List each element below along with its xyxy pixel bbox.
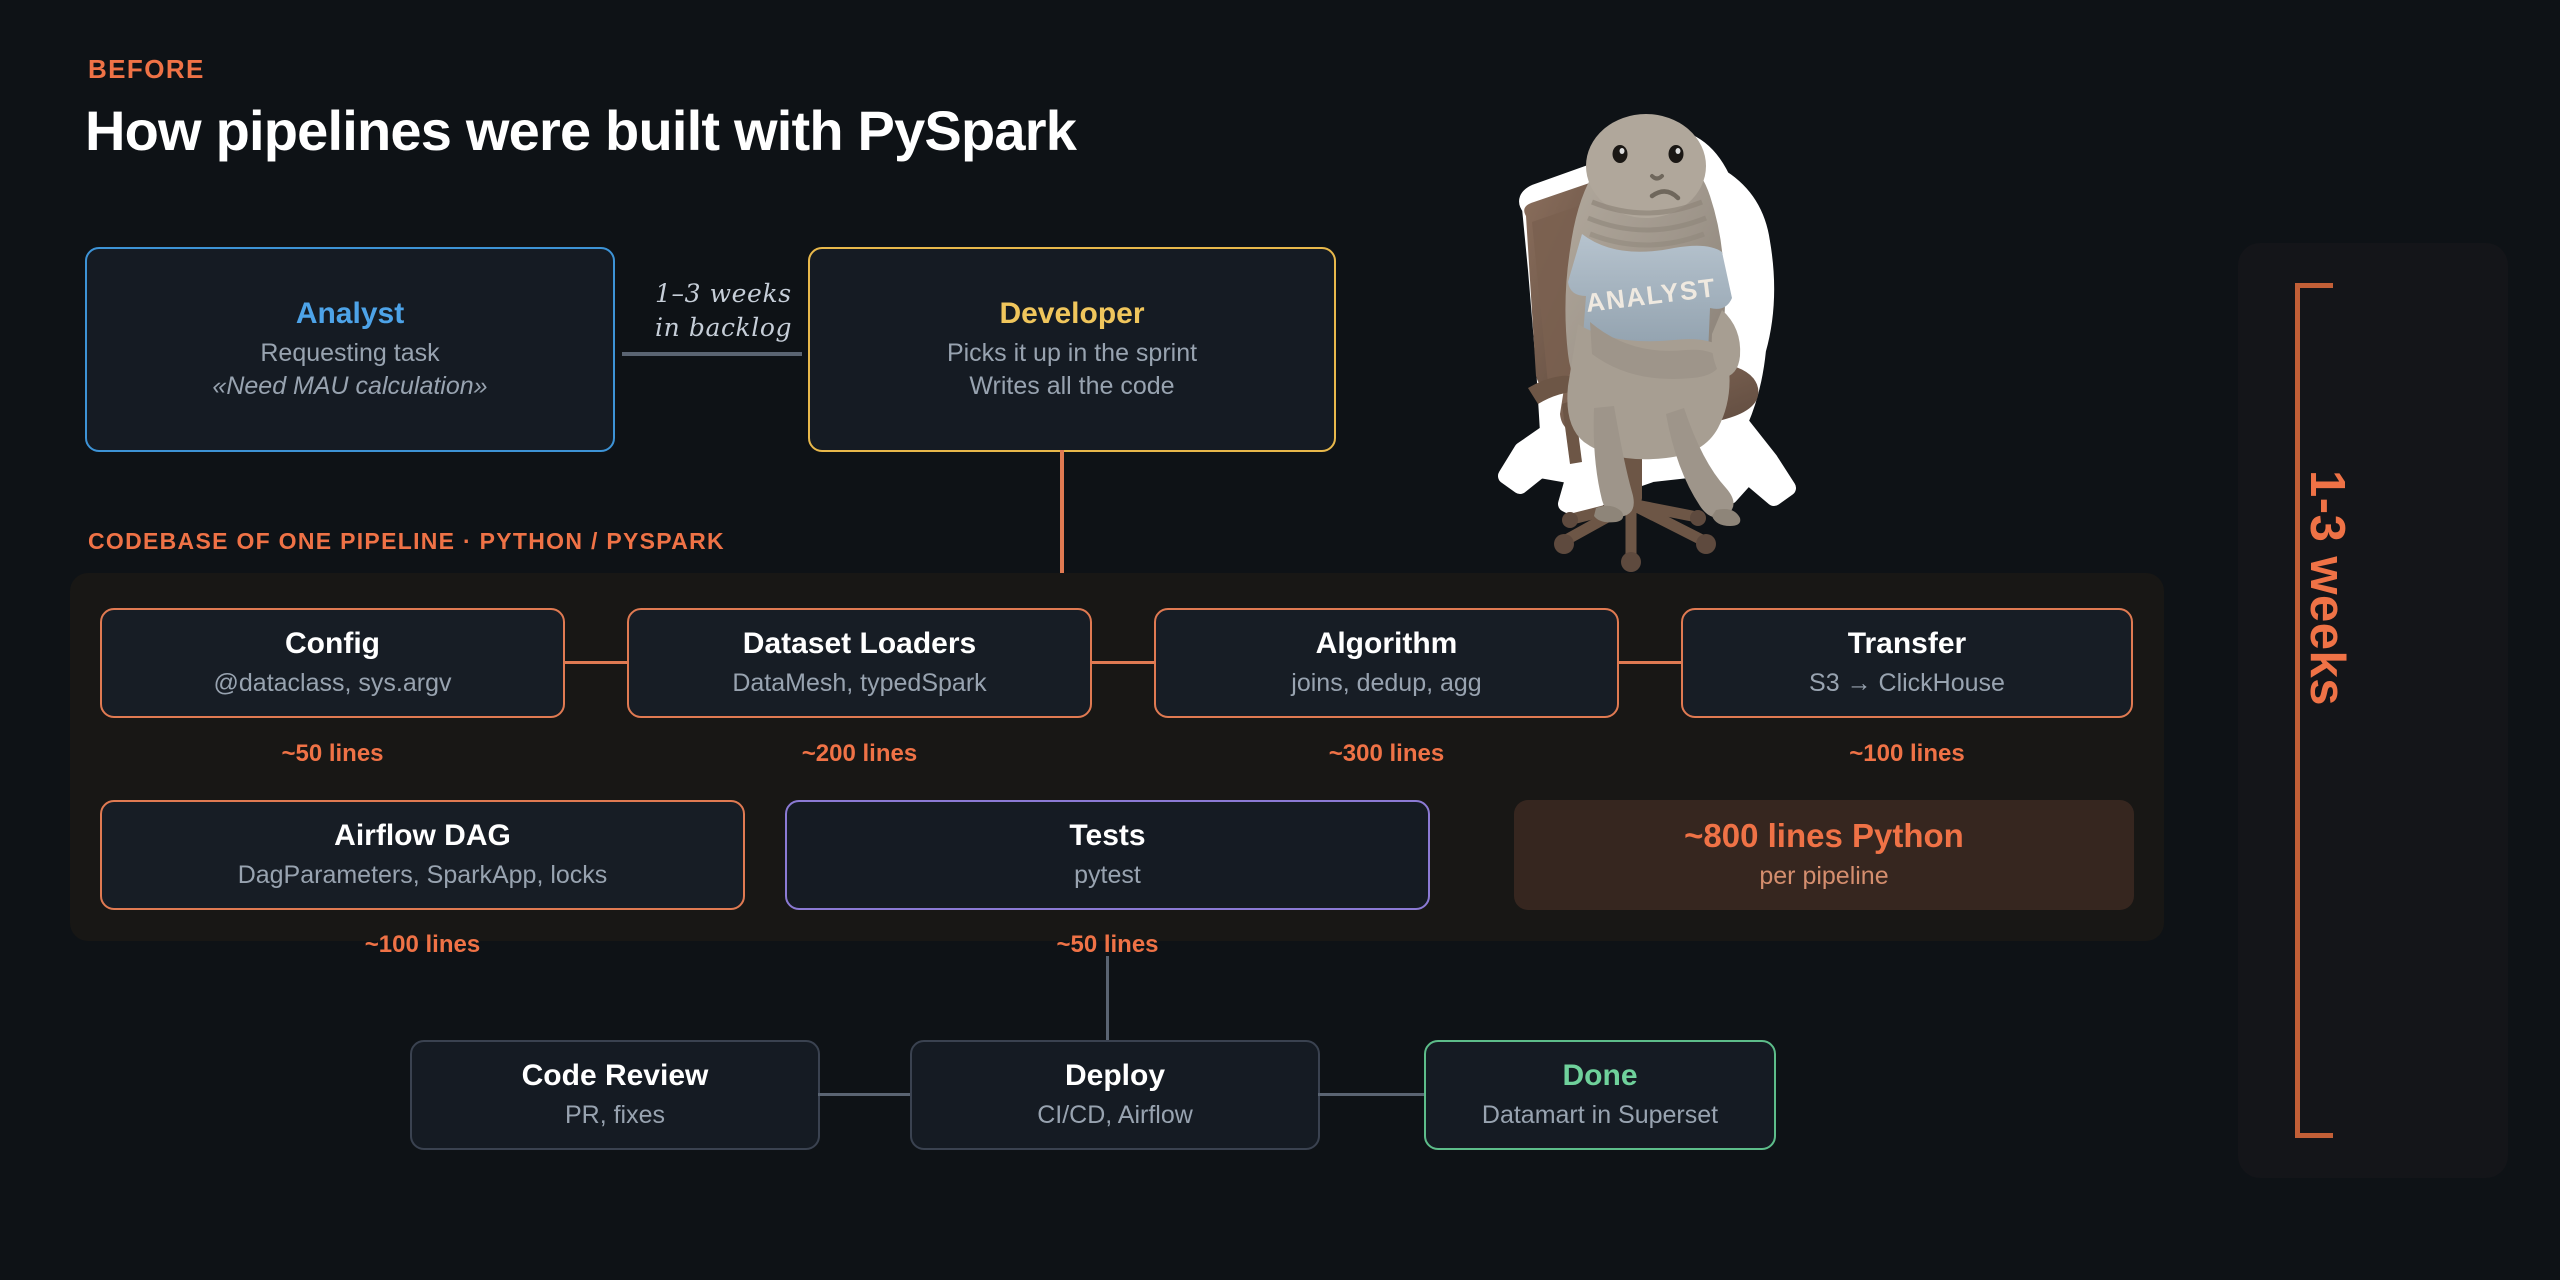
timing-bracket bbox=[2295, 283, 2333, 1138]
timing-rail-panel bbox=[2238, 243, 2508, 1178]
lines-label-tests: ~50 lines bbox=[785, 931, 1430, 959]
connector-deploy-done bbox=[1318, 1093, 1426, 1096]
arrow-label-backlog: 1–3 weeks in backlog bbox=[655, 277, 792, 345]
analyst-sticker-image: ANALYST bbox=[1470, 88, 1830, 588]
connector-config-loaders bbox=[563, 661, 629, 664]
node-algorithm: Algorithm joins, dedup, agg bbox=[1154, 608, 1619, 718]
node-airflow-dag: Airflow DAG DagParameters, SparkApp, loc… bbox=[100, 800, 745, 910]
node-tests-subtitle: pytest bbox=[1074, 859, 1141, 892]
node-tests: Tests pytest bbox=[785, 800, 1430, 910]
node-analyst-line1: Requesting task bbox=[260, 337, 439, 370]
node-done-title: Done bbox=[1563, 1058, 1638, 1093]
node-transfer: Transfer S3 → ClickHouse bbox=[1681, 608, 2133, 718]
node-code-review: Code Review PR, fixes bbox=[410, 1040, 820, 1150]
page-title: How pipelines were built with PySpark bbox=[85, 98, 1076, 163]
lines-label-airflow-dag: ~100 lines bbox=[100, 931, 745, 959]
node-deploy-subtitle: CI/CD, Airflow bbox=[1037, 1099, 1193, 1132]
node-done: Done Datamart in Superset bbox=[1424, 1040, 1776, 1150]
node-deploy: Deploy CI/CD, Airflow bbox=[910, 1040, 1320, 1150]
node-algorithm-subtitle: joins, dedup, agg bbox=[1291, 667, 1481, 700]
node-tests-title: Tests bbox=[1069, 818, 1145, 853]
connector-analyst-developer bbox=[622, 352, 802, 356]
lines-label-transfer: ~100 lines bbox=[1681, 740, 2133, 768]
node-config-title: Config bbox=[285, 626, 380, 661]
timing-rail-duration: 1-3 weeks bbox=[2299, 470, 2355, 706]
arrow-label-line2: in backlog bbox=[655, 311, 792, 345]
node-transfer-title: Transfer bbox=[1848, 626, 1966, 661]
node-config-subtitle: @dataclass, sys.argv bbox=[214, 667, 452, 700]
eyebrow-label: BEFORE bbox=[88, 54, 205, 85]
infographic-canvas: BEFORE How pipelines were built with PyS… bbox=[0, 0, 2560, 1280]
node-dataset-loaders-subtitle: DataMesh, typedSpark bbox=[732, 667, 986, 700]
lines-label-algorithm: ~300 lines bbox=[1154, 740, 1619, 768]
node-analyst-line2: «Need MAU calculation» bbox=[212, 370, 487, 403]
arrow-label-line1: 1–3 weeks bbox=[655, 277, 792, 311]
lines-label-config: ~50 lines bbox=[100, 740, 565, 768]
node-airflow-dag-subtitle: DagParameters, SparkApp, locks bbox=[238, 859, 608, 892]
node-developer-line1: Picks it up in the sprint bbox=[947, 337, 1197, 370]
connector-algorithm-transfer bbox=[1617, 661, 1683, 664]
node-analyst: Analyst Requesting task «Need MAU calcul… bbox=[85, 247, 615, 452]
node-code-review-subtitle: PR, fixes bbox=[565, 1099, 665, 1132]
node-developer: Developer Picks it up in the sprint Writ… bbox=[808, 247, 1336, 452]
codebase-section-label: CODEBASE OF ONE PIPELINE · PYTHON / PYSP… bbox=[88, 528, 725, 555]
node-total-lines-summary: ~800 lines Python per pipeline bbox=[1514, 800, 2134, 910]
node-done-subtitle: Datamart in Superset bbox=[1482, 1099, 1718, 1132]
node-config: Config @dataclass, sys.argv bbox=[100, 608, 565, 718]
connector-loaders-algorithm bbox=[1090, 661, 1156, 664]
node-total-lines-subtitle: per pipeline bbox=[1759, 860, 1888, 893]
connector-tests-deploy bbox=[1106, 956, 1109, 1044]
lines-label-dataset-loaders: ~200 lines bbox=[627, 740, 1092, 768]
node-developer-title: Developer bbox=[999, 296, 1144, 331]
node-transfer-subtitle: S3 → ClickHouse bbox=[1809, 667, 2005, 700]
node-airflow-dag-title: Airflow DAG bbox=[334, 818, 511, 853]
node-dataset-loaders: Dataset Loaders DataMesh, typedSpark bbox=[627, 608, 1092, 718]
connector-review-deploy bbox=[818, 1093, 912, 1096]
node-deploy-title: Deploy bbox=[1065, 1058, 1165, 1093]
node-dataset-loaders-title: Dataset Loaders bbox=[743, 626, 976, 661]
node-developer-line2: Writes all the code bbox=[969, 370, 1174, 403]
node-analyst-title: Analyst bbox=[296, 296, 404, 331]
node-algorithm-title: Algorithm bbox=[1316, 626, 1458, 661]
node-total-lines-title: ~800 lines Python bbox=[1684, 817, 1964, 856]
node-code-review-title: Code Review bbox=[522, 1058, 709, 1093]
